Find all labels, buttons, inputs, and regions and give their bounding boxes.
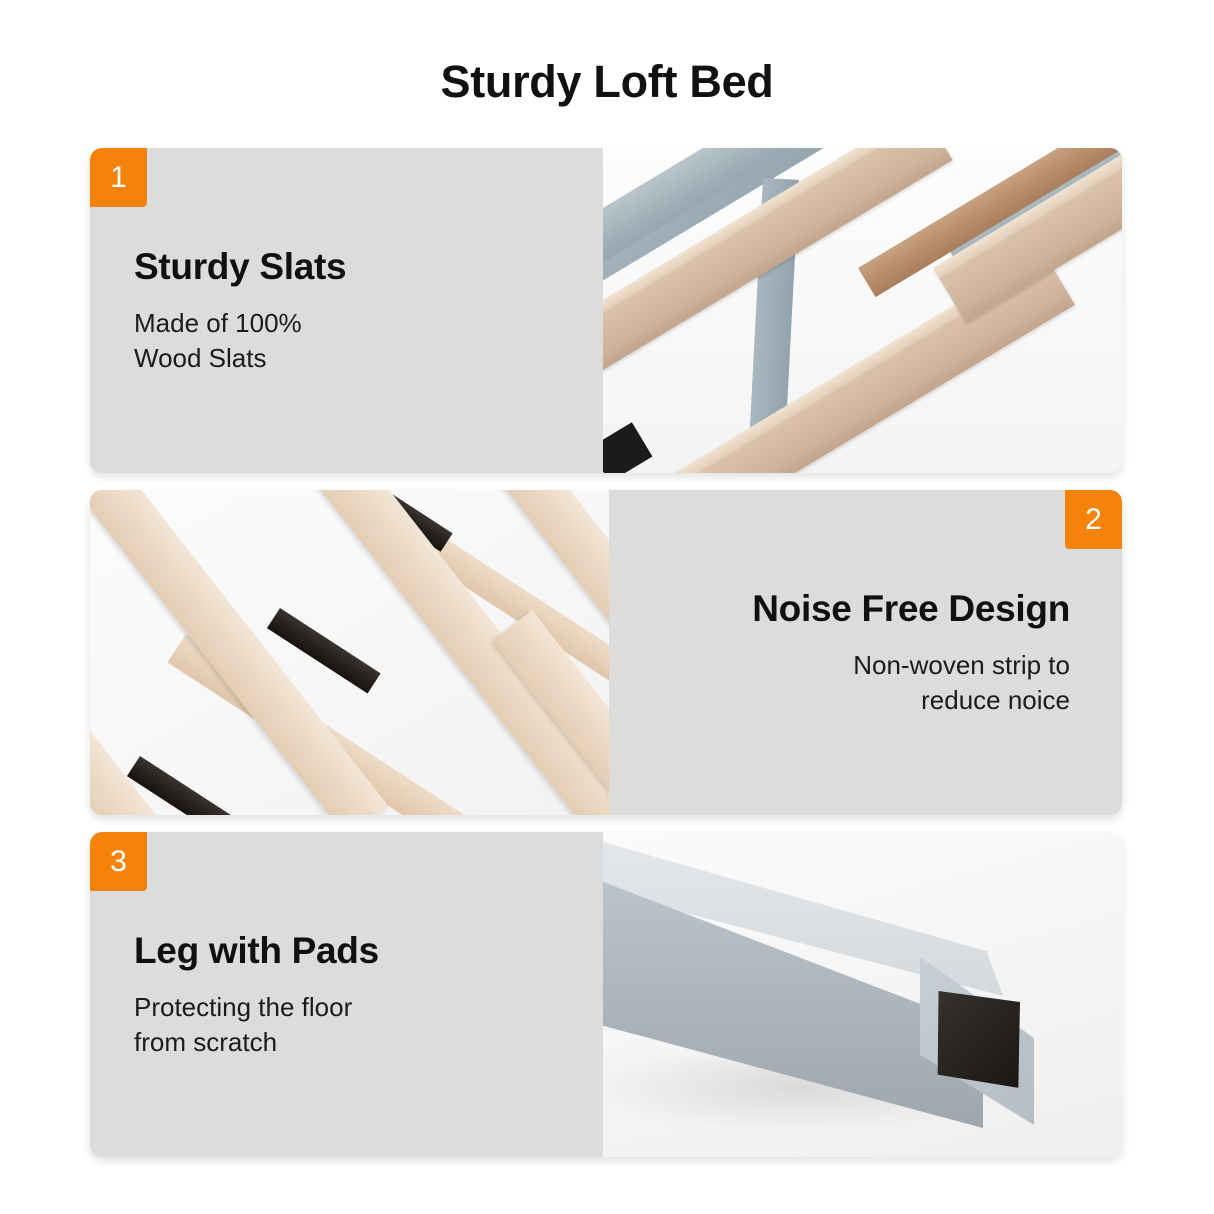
panel-2-subtext: Non-woven strip to reduce noice — [653, 648, 1070, 717]
feature-panel-3: 3 Leg with Pads Protecting the floor fro… — [90, 832, 1122, 1157]
panel-1-text-area: Sturdy Slats Made of 100% Wood Slats — [90, 148, 603, 473]
panel-number-badge-3: 3 — [90, 832, 147, 891]
panel-3-text-area: Leg with Pads Protecting the floor from … — [90, 832, 603, 1157]
panel-1-text-block: Sturdy Slats Made of 100% Wood Slats — [90, 246, 603, 375]
panel-number-badge-2: 2 — [1065, 490, 1122, 549]
panel-number-label: 2 — [1085, 505, 1102, 535]
infographic-page: Sturdy Loft Bed 1 Sturdy Slats Made of 1… — [0, 0, 1214, 1214]
panel-number-badge-1: 1 — [90, 148, 147, 207]
panel-3-subtext: Protecting the floor from scratch — [134, 990, 559, 1059]
panel-1-photo — [603, 148, 1122, 473]
panel-number-label: 1 — [110, 163, 127, 193]
panel-3-photo — [603, 832, 1122, 1157]
panel-number-label: 3 — [110, 847, 127, 877]
panel-2-photo — [90, 490, 609, 815]
panel-2-heading: Noise Free Design — [653, 588, 1070, 631]
feature-panel-list: 1 Sturdy Slats Made of 100% Wood Slats — [90, 148, 1122, 1157]
panel-3-heading: Leg with Pads — [134, 930, 559, 973]
panel-2-text-area: Noise Free Design Non-woven strip to red… — [609, 490, 1122, 815]
panel-1-heading: Sturdy Slats — [134, 246, 559, 289]
panel-2-text-block: Noise Free Design Non-woven strip to red… — [609, 588, 1122, 717]
feature-panel-1: 1 Sturdy Slats Made of 100% Wood Slats — [90, 148, 1122, 473]
feature-panel-2: 2 — [90, 490, 1122, 815]
panel-1-subtext: Made of 100% Wood Slats — [134, 306, 559, 375]
page-title: Sturdy Loft Bed — [0, 57, 1214, 107]
panel-3-text-block: Leg with Pads Protecting the floor from … — [90, 930, 603, 1059]
